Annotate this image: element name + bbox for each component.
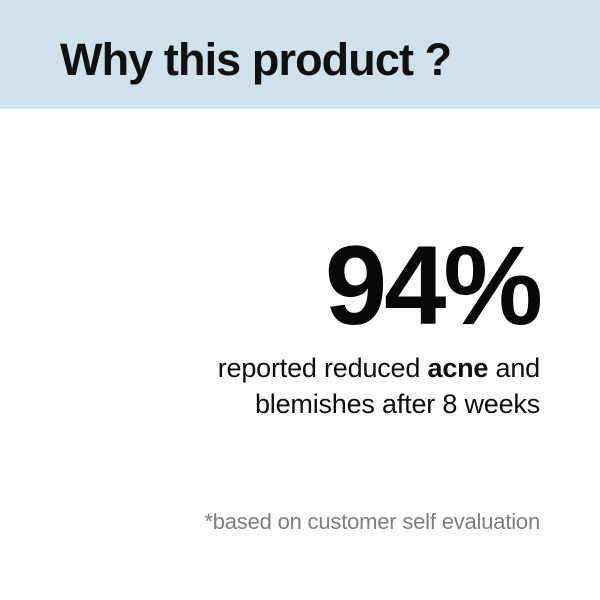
stat-block: 94% reported reduced acne and blemishes … — [70, 232, 540, 422]
footnote-disclaimer: *based on customer self evaluation — [70, 508, 540, 537]
stat-caption-line-2: blemishes after 8 weeks — [255, 389, 540, 419]
stat-caption: reported reduced acne and blemishes afte… — [70, 350, 540, 423]
promo-card: Why this product ? 94% reported reduced … — [0, 0, 600, 600]
header-band: Why this product ? — [0, 0, 600, 109]
page-title: Why this product ? — [60, 36, 451, 84]
stat-caption-prefix: reported reduced — [218, 353, 428, 383]
stat-caption-suffix: and — [488, 353, 540, 383]
stat-caption-emphasis: acne — [428, 353, 489, 383]
stat-percentage-value: 94% — [70, 232, 540, 340]
